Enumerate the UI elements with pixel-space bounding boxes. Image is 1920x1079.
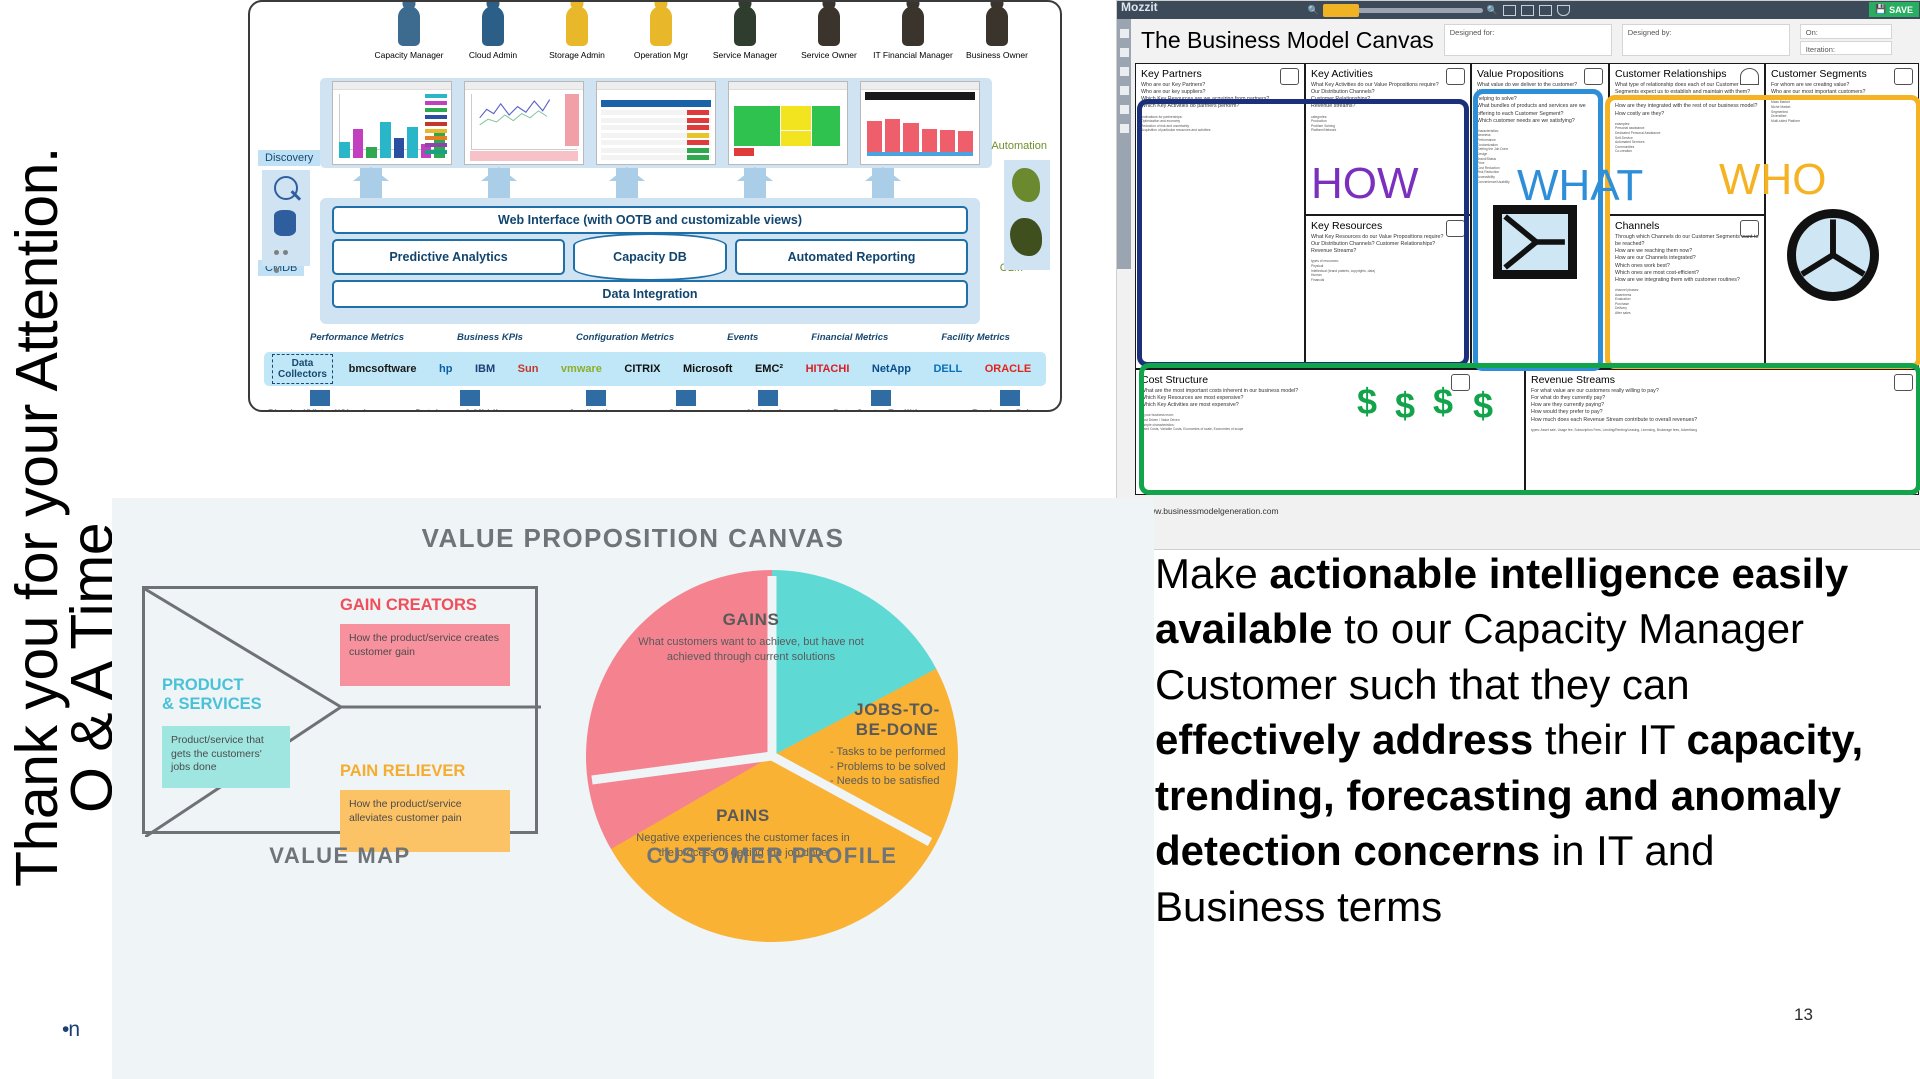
- persona-label: Capacity Manager: [375, 51, 444, 60]
- persona-0: Capacity Manager: [378, 6, 440, 68]
- core-web-interface: Web Interface (with OOTB and customizabl…: [332, 206, 968, 234]
- save-label: SAVE: [1889, 5, 1913, 15]
- persona-6: IT Financial Manager: [882, 6, 944, 68]
- metric-label-1: Business KPIs: [457, 332, 523, 348]
- infra-icon: [586, 390, 606, 406]
- jobs-title: JOBS-TO- BE-DONE: [822, 700, 972, 740]
- vendor-logo-3: Sun: [518, 363, 539, 375]
- infra-icon: [871, 390, 891, 406]
- cursor-icon[interactable]: [1120, 29, 1129, 38]
- infrastructure-row: Physical/Virtual/CloudsDatabases & Middl…: [268, 390, 1048, 410]
- zoom-control[interactable]: 🔍 🔍: [1308, 5, 1498, 16]
- chart-icon[interactable]: [1120, 124, 1129, 133]
- person-icon: [734, 6, 756, 46]
- metric-label-3: Events: [727, 332, 758, 348]
- image-icon[interactable]: [1503, 5, 1516, 16]
- bmc-footer-url: www.businessmodelgeneration.com: [1143, 506, 1279, 516]
- metrics-row: Performance MetricsBusiness KPIsConfigur…: [310, 332, 1010, 348]
- vendor-logo-7: EMC²: [755, 363, 783, 375]
- infra-item-2: Applications: [569, 390, 625, 412]
- infra-icon: [758, 390, 778, 406]
- pains-title: PAINS: [628, 806, 858, 826]
- automation-blob-icon: [1012, 168, 1040, 202]
- data-collectors-line2: Collectors: [278, 369, 327, 380]
- person-icon: [818, 6, 840, 46]
- core-automated-reporting: Automated Reporting: [735, 239, 968, 275]
- line-icon[interactable]: [1120, 48, 1129, 57]
- dashboard-card-treemap: [728, 81, 848, 165]
- person-icon: [398, 6, 420, 46]
- core-platform-panel: Web Interface (with OOTB and customizabl…: [320, 198, 980, 324]
- bmc-left-toolbar[interactable]: [1117, 19, 1131, 269]
- infra-label: Business Drivers: [972, 408, 1048, 412]
- cell-title: Customer Segments: [1771, 68, 1913, 80]
- data-collectors-box: Data Collectors: [272, 354, 333, 384]
- statement-segment-3: effectively address: [1155, 716, 1533, 763]
- value-map-label: VALUE MAP: [142, 843, 538, 869]
- chain-link-icon: [1280, 68, 1299, 85]
- automation-column: [1004, 160, 1050, 270]
- infra-label: Storage: [668, 408, 703, 412]
- person-icon: [650, 6, 672, 46]
- gains-text: What customers want to achieve, but have…: [636, 635, 866, 664]
- persona-7: Business Owner: [966, 6, 1028, 68]
- infra-icon: [676, 390, 696, 406]
- zoom-slider[interactable]: [1323, 8, 1483, 13]
- persona-label: Storage Admin: [549, 51, 605, 60]
- save-icon: 💾: [1875, 4, 1886, 15]
- metric-label-2: Configuration Metrics: [576, 332, 674, 348]
- persona-3: Operation Mgr: [630, 6, 692, 68]
- bmc-header: The Business Model Canvas Designed for: …: [1131, 19, 1920, 63]
- heart-icon: [1740, 68, 1759, 85]
- infra-icon: [1000, 390, 1020, 406]
- database-icon: [274, 210, 296, 236]
- persona-label: Cloud Admin: [469, 51, 517, 60]
- persona-2: Storage Admin: [546, 6, 608, 68]
- clm-blob-icon: [1010, 218, 1042, 256]
- persona-label: Business Owner: [966, 51, 1028, 60]
- core-predictive-analytics: Predictive Analytics: [332, 239, 565, 275]
- vendor-logo-2: IBM: [475, 363, 495, 375]
- pain-reliever-title: PAIN RELIEVER: [340, 762, 465, 781]
- gains-title: GAINS: [636, 610, 866, 630]
- app-brand: Mozzit: [1121, 0, 1158, 14]
- note-icon[interactable]: [1120, 105, 1129, 114]
- jobs-text: - Tasks to be performed - Problems to be…: [822, 745, 972, 789]
- statement-segment-0: Make: [1155, 550, 1269, 597]
- columns-icon[interactable]: [1539, 5, 1552, 16]
- cell-title: Key Activities: [1311, 68, 1465, 80]
- comment-icon[interactable]: [1120, 86, 1129, 95]
- vendor-logo-11: ORACLE: [985, 363, 1031, 375]
- magnifier-minus-icon[interactable]: 🔍: [1308, 5, 1319, 16]
- infra-item-1: Databases & Middleware: [415, 390, 524, 412]
- metric-label-0: Performance Metrics: [310, 332, 404, 348]
- upward-arrows: [320, 168, 980, 202]
- vendor-logo-5: CITRIX: [624, 363, 660, 375]
- designed-for-field[interactable]: Designed for:: [1444, 24, 1612, 56]
- dashboard-card-3d-bar: [332, 81, 452, 165]
- infra-item-0: Physical/Virtual/Clouds: [268, 390, 371, 412]
- persona-label: Service Manager: [713, 51, 777, 60]
- persona-row: Capacity ManagerCloud AdminStorage Admin…: [250, 6, 1062, 68]
- shape-icon[interactable]: [1120, 67, 1129, 76]
- data-collectors-line1: Data: [292, 358, 314, 369]
- person-icon: [566, 6, 588, 46]
- infra-label: Networks: [747, 408, 789, 412]
- objective-statement: Make actionable intelligence easily avai…: [1155, 546, 1885, 934]
- pie-slice-gains: GAINS What customers want to achieve, bu…: [636, 610, 866, 664]
- infra-label: Databases & Middleware: [415, 408, 524, 412]
- cell-title: Key Partners: [1141, 68, 1299, 80]
- person-icon: [482, 6, 504, 46]
- dashboard-card-daily-charge: [860, 81, 980, 165]
- vendor-logo-0: bmcsoftware: [349, 363, 417, 375]
- discovery-column: [262, 170, 310, 266]
- vpc-title: VALUE PROPOSITION CANVAS: [112, 523, 1154, 554]
- persona-label: Operation Mgr: [634, 51, 688, 60]
- label-discovery: Discovery: [258, 150, 320, 166]
- customer-profile-pie: GAINS What customers want to achieve, bu…: [572, 570, 972, 968]
- capacity-management-diagram: Capacity ManagerCloud AdminStorage Admin…: [248, 0, 1062, 412]
- corner-logo: •n: [62, 1018, 79, 1042]
- dashboard-strip: [320, 78, 992, 168]
- persona-label: IT Financial Manager: [873, 51, 953, 60]
- infra-label: Physical/Virtual/Clouds: [268, 408, 371, 412]
- persona-1: Cloud Admin: [462, 6, 524, 68]
- annotation-who: WHO: [1719, 155, 1827, 205]
- save-button[interactable]: 💾 SAVE: [1869, 2, 1919, 17]
- core-data-integration: Data Integration: [332, 280, 968, 308]
- value-proposition-canvas: VALUE PROPOSITION CANVAS PRODUCT & SERVI…: [112, 498, 1154, 1079]
- gain-creators-title: GAIN CREATORS: [340, 596, 477, 615]
- persona-label: Service Owner: [801, 51, 857, 60]
- dashboard-card-line-chart: [464, 81, 584, 165]
- bmc-grid: Key Partners Who are our Key Partners? W…: [1135, 63, 1919, 503]
- infra-item-3: Storage: [668, 390, 703, 412]
- gears-icon: [1446, 68, 1465, 85]
- vendor-logo-1: hp: [439, 363, 452, 375]
- label-automation: Automation: [984, 138, 1054, 154]
- product-services-text: Product/service that gets the customers'…: [162, 726, 290, 788]
- infra-item-6: Business Drivers: [972, 390, 1048, 412]
- infra-icon: [310, 390, 330, 406]
- core-capacity-db: Capacity DB: [573, 233, 727, 281]
- vendor-logo-9: NetApp: [872, 363, 911, 375]
- vendor-logo-6: Microsoft: [683, 363, 733, 375]
- metric-label-4: Financial Metrics: [811, 332, 888, 348]
- pie-slice-jobs: JOBS-TO- BE-DONE - Tasks to be performed…: [822, 700, 972, 789]
- gain-creators-text: How the product/service creates customer…: [340, 624, 510, 686]
- magnifier-plus-icon[interactable]: 🔍: [1487, 5, 1498, 16]
- infra-item-5: Data Center Facilities: [833, 390, 928, 412]
- shield-icon[interactable]: [1557, 5, 1570, 16]
- designed-by-field[interactable]: Designed by:: [1622, 24, 1790, 56]
- person-icon: [1894, 68, 1913, 85]
- vendor-logo-10: DELL: [933, 363, 962, 375]
- persona-4: Service Manager: [714, 6, 776, 68]
- vendor-logo-4: vmware: [561, 363, 602, 375]
- annotation-ring-money: [1139, 363, 1920, 495]
- infra-icon: [460, 390, 480, 406]
- slide-number: 13: [1794, 1005, 1813, 1025]
- annotation-what: WHAT: [1517, 161, 1643, 211]
- product-services-title: PRODUCT & SERVICES: [162, 676, 262, 714]
- gift-icon: [1584, 68, 1603, 85]
- bmc-toolbar: Mozzit 🔍 🔍 💾 SAVE: [1117, 1, 1920, 19]
- annotation-ring-how: [1137, 99, 1469, 367]
- infra-label: Applications: [569, 408, 625, 412]
- metric-label-5: Facility Metrics: [941, 332, 1010, 348]
- dashboard-card-status-table: [596, 81, 716, 165]
- cell-title: Customer Relationships: [1615, 68, 1759, 80]
- iteration-field[interactable]: Iteration:: [1800, 41, 1892, 55]
- frame-icon[interactable]: [1521, 5, 1534, 16]
- customer-profile-label: CUSTOMER PROFILE: [552, 843, 992, 869]
- infra-item-4: Networks: [747, 390, 789, 412]
- on-date-field[interactable]: On:: [1800, 24, 1892, 39]
- business-model-canvas-window: Mozzit 🔍 🔍 💾 SAVE The Business Model Can…: [1116, 0, 1920, 550]
- data-collectors-bar: Data Collectors bmcsoftwarehpIBMSunvmwar…: [264, 352, 1046, 386]
- person-icon: [986, 6, 1008, 46]
- infra-label: Data Center Facilities: [833, 408, 928, 412]
- annotation-ring-what: [1473, 89, 1603, 371]
- persona-5: Service Owner: [798, 6, 860, 68]
- annotation-how: HOW: [1311, 159, 1419, 209]
- statement-segment-4: their IT: [1533, 716, 1686, 763]
- annotation-ring-who: [1605, 95, 1920, 369]
- person-icon: [902, 6, 924, 46]
- vendor-logo-8: HITACHI: [806, 363, 850, 375]
- bmc-title: The Business Model Canvas: [1141, 27, 1434, 54]
